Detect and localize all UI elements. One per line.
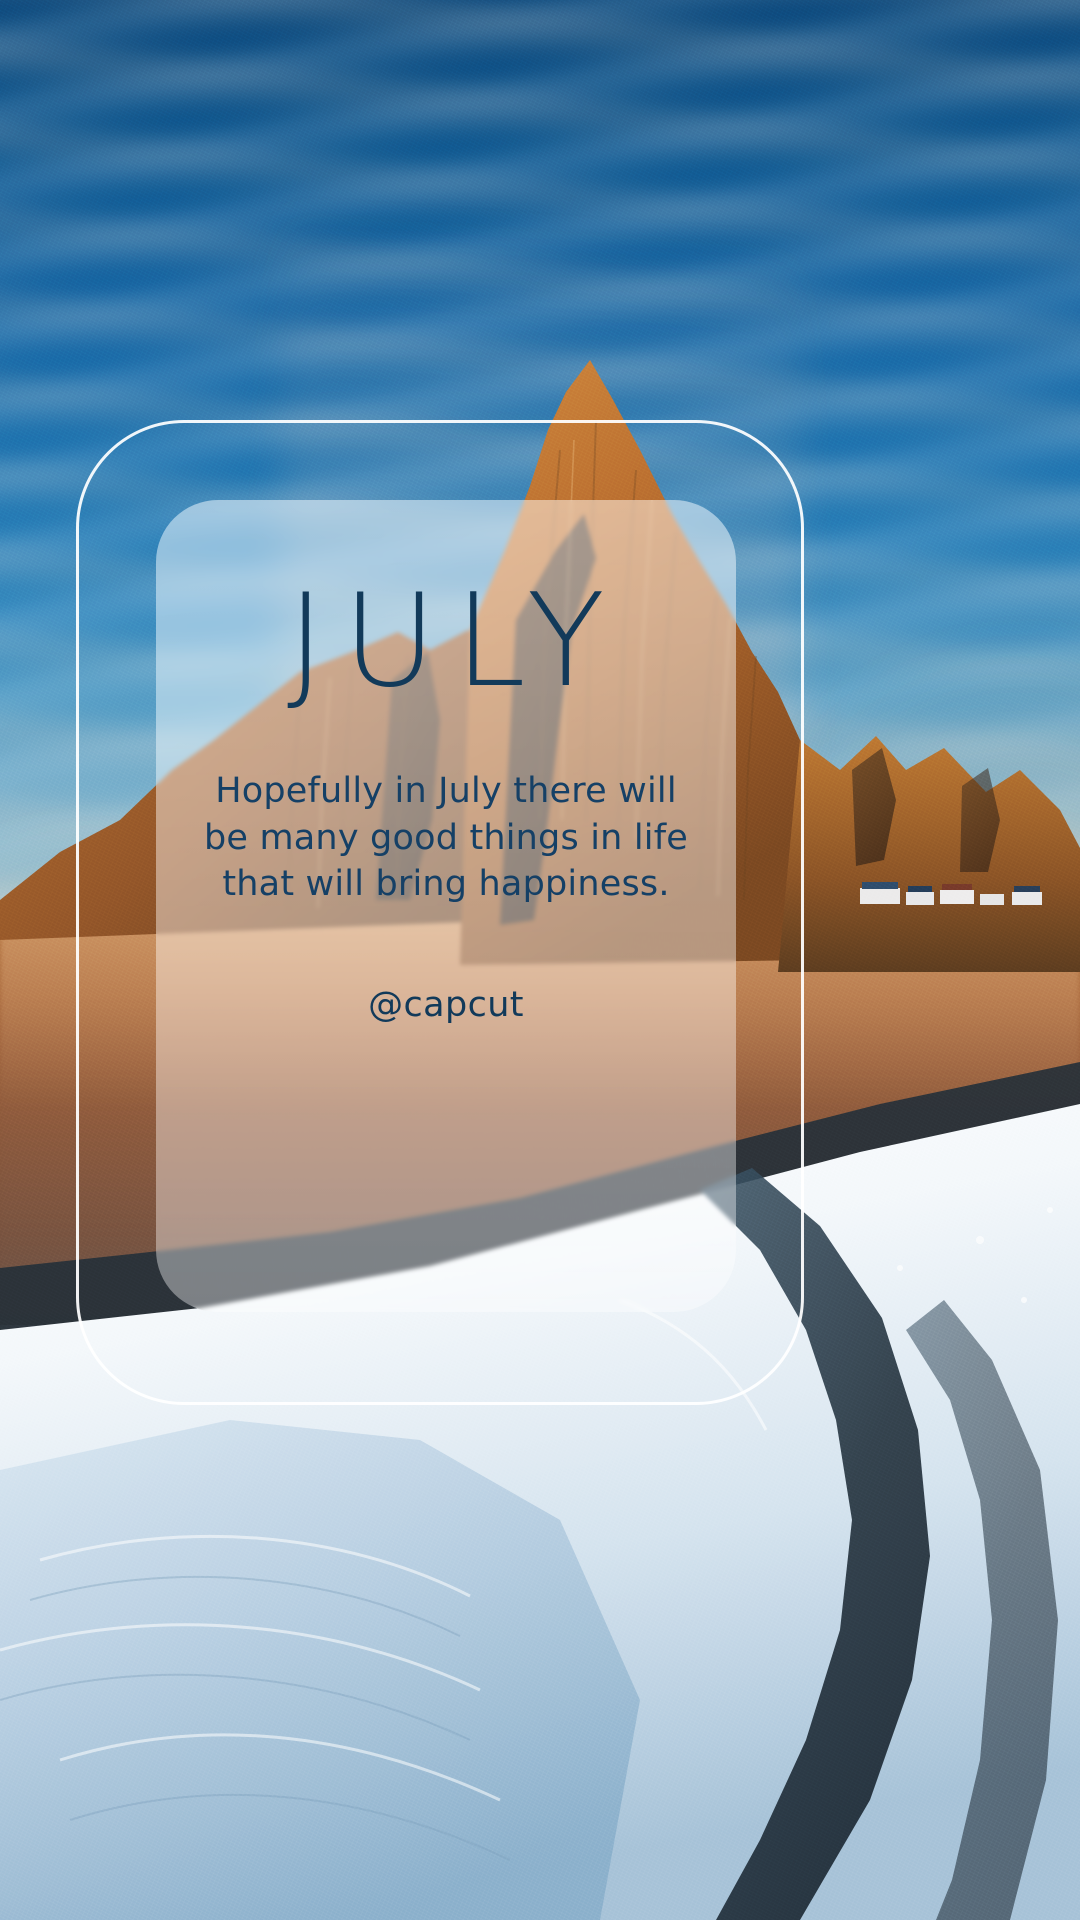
account-handle: @capcut [156, 908, 736, 1023]
right-ridge [778, 736, 1080, 972]
frosted-glass-card: JULY Hopefully in July there will be man… [156, 500, 736, 1312]
body-paragraph: Hopefully in July there will be many goo… [156, 706, 736, 908]
page-title: JULY [156, 500, 736, 706]
poster-canvas: JULY Hopefully in July there will be man… [0, 0, 1080, 1920]
